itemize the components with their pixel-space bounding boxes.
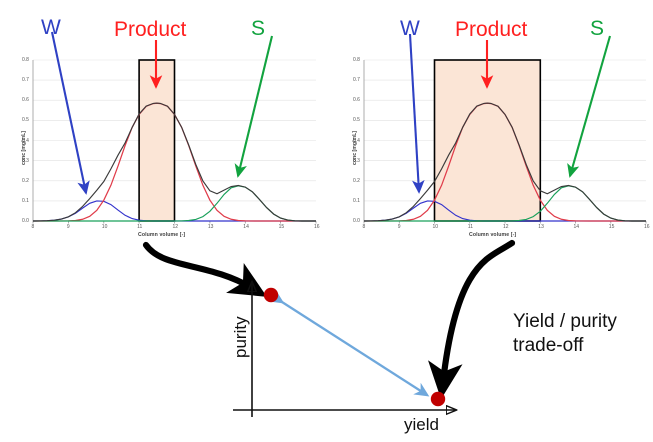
x-tick-left-5: 13 (208, 224, 214, 230)
scatter-y-axis-label: purity (231, 316, 251, 358)
y-tick-right-2: 0.6 (353, 97, 360, 103)
y-tick-left-4: 0.4 (22, 138, 29, 144)
x-axis-title-right: Column volume [-] (469, 232, 516, 238)
x-tick-right-4: 12 (503, 224, 509, 230)
y-tick-right-6: 0.2 (353, 178, 360, 184)
x-tick-right-5: 13 (538, 224, 544, 230)
y-tick-right-0: 0.8 (353, 57, 360, 63)
y-tick-left-3: 0.5 (22, 117, 29, 123)
y-tick-right-8: 0.0 (353, 218, 360, 224)
x-tick-left-6: 14 (243, 224, 249, 230)
scatter-point-wide-cut[interactable] (431, 392, 445, 406)
chart-label-product-right: Product (455, 19, 527, 40)
x-tick-right-2: 10 (433, 224, 439, 230)
x-tick-right-6: 14 (574, 224, 580, 230)
x-tick-right-7: 15 (609, 224, 615, 230)
x-tick-left-2: 10 (102, 224, 108, 230)
yield-purity-scatter (233, 283, 455, 417)
y-tick-right-3: 0.5 (353, 117, 360, 123)
chart-label-w-right: W (400, 18, 420, 39)
slide-canvas: W Product S W Product S Column volume [-… (0, 0, 653, 442)
chart-label-s-left: S (251, 18, 265, 39)
figure-vector-layer (0, 0, 653, 442)
x-tick-right-1: 9 (398, 224, 401, 230)
y-tick-right-1: 0.7 (353, 77, 360, 83)
scatter-x-axis-label: yield (404, 415, 439, 435)
y-tick-right-4: 0.4 (353, 138, 360, 144)
chart-label-w-left: W (41, 17, 61, 38)
x-tick-left-4: 12 (173, 224, 179, 230)
x-tick-left-8: 16 (314, 224, 320, 230)
chromatogram-narrow-cut (19, 32, 320, 236)
y-tick-left-5: 0.3 (22, 158, 29, 164)
y-tick-left-2: 0.6 (22, 97, 29, 103)
tradeoff-caption-line1: Yield / purity (513, 310, 617, 334)
chart-label-s-right: S (590, 18, 604, 39)
chart-label-product-left: Product (114, 19, 186, 40)
y-tick-right-7: 0.1 (353, 198, 360, 204)
chromatogram-wide-cut (350, 34, 651, 236)
transfer-arrow-left (146, 245, 252, 288)
y-tick-left-7: 0.1 (22, 198, 29, 204)
x-tick-left-0: 8 (32, 224, 35, 230)
x-tick-right-8: 16 (644, 224, 650, 230)
y-tick-left-0: 0.8 (22, 57, 29, 63)
x-tick-left-7: 15 (279, 224, 285, 230)
x-tick-right-3: 11 (468, 224, 473, 230)
x-tick-left-1: 9 (67, 224, 70, 230)
transfer-arrow-right (443, 243, 512, 382)
tradeoff-connector-arrow (282, 302, 427, 395)
x-tick-left-3: 11 (137, 224, 142, 230)
tradeoff-caption-line2: trade-off (513, 334, 583, 358)
x-tick-right-0: 8 (363, 224, 366, 230)
x-axis-title-left: Column volume [-] (138, 232, 185, 238)
y-tick-left-8: 0.0 (22, 218, 29, 224)
y-tick-left-1: 0.7 (22, 77, 29, 83)
y-tick-left-6: 0.2 (22, 178, 29, 184)
scatter-point-narrow-cut[interactable] (264, 288, 278, 302)
y-tick-right-5: 0.3 (353, 158, 360, 164)
